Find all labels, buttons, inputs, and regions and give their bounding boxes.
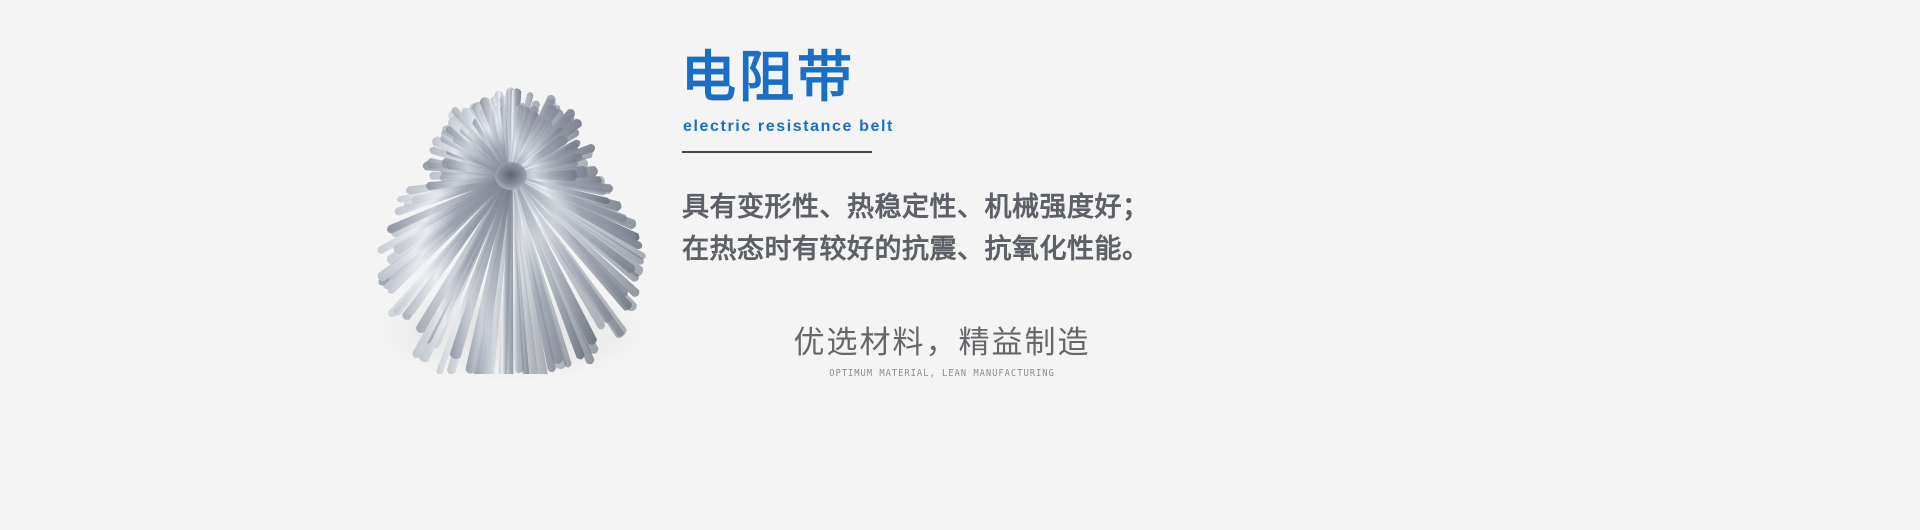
product-description: 具有变形性、热稳定性、机械强度好； 在热态时有较好的抗震、抗氧化性能。	[682, 186, 1302, 270]
page-title: 电阻带	[681, 46, 855, 108]
text-column: 电阻带 electric resistance belt 具有变形性、热稳定性、…	[681, 0, 1831, 530]
title-divider	[682, 151, 872, 153]
description-line: 在热态时有较好的抗震、抗氧化性能。	[682, 228, 1302, 270]
page-subtitle: electric resistance belt	[683, 117, 894, 137]
product-banner: 电阻带 electric resistance belt 具有变形性、热稳定性、…	[0, 0, 1920, 530]
slogan-block: 优选材料，精益制造 OPTIMUM MATERIAL, LEAN MANUFAC…	[777, 322, 1107, 380]
product-image	[336, 44, 692, 374]
slogan-chinese: 优选材料，精益制造	[777, 322, 1107, 364]
resistance-belt-burst	[336, 44, 692, 374]
description-line: 具有变形性、热稳定性、机械强度好；	[682, 186, 1302, 228]
resistance-belt-illustration	[336, 44, 692, 374]
slogan-english: OPTIMUM MATERIAL, LEAN MANUFACTURING	[797, 367, 1087, 380]
